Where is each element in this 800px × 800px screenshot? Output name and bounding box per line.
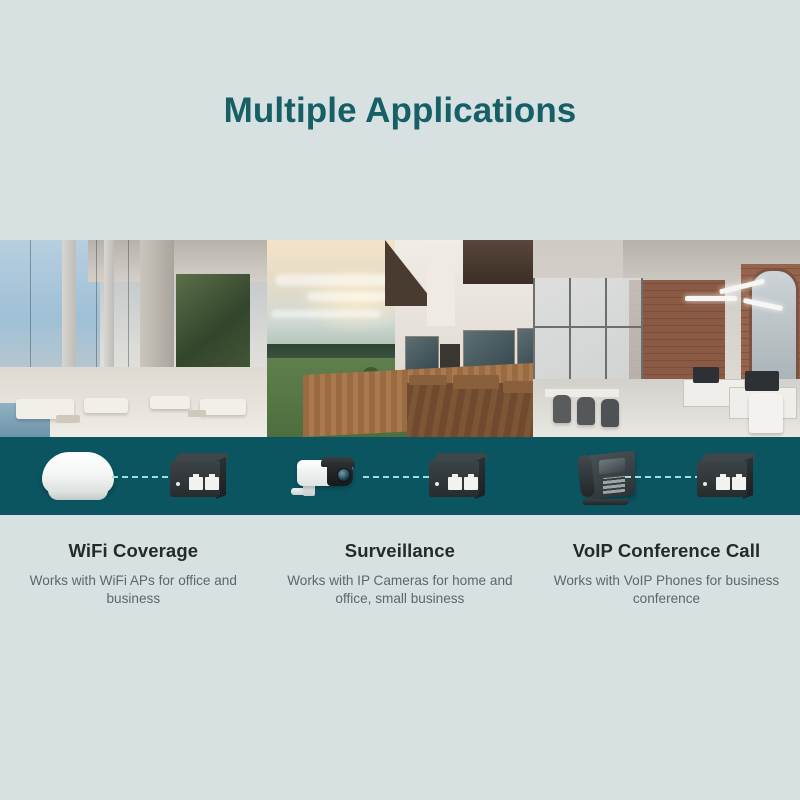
cloud-3 <box>271 310 381 318</box>
application-captions: WiFi Coverage Works with WiFi APs for of… <box>0 540 800 608</box>
rj45-port-1 <box>716 477 730 490</box>
poe-body <box>429 461 479 497</box>
application-showcase-page: Multiple Applications <box>0 0 800 800</box>
caption-description: Works with WiFi APs for office and busin… <box>14 572 253 608</box>
poe-body <box>170 461 220 497</box>
poe-body <box>697 461 747 497</box>
bullet-ip-camera-icon <box>283 454 367 498</box>
ethernet-link-line <box>363 476 429 478</box>
caption-description: Works with VoIP Phones for business conf… <box>547 572 786 608</box>
caption-heading: VoIP Conference Call <box>547 540 786 562</box>
device-diagram-band <box>0 437 800 515</box>
lobby-window-sky <box>0 240 100 370</box>
office-task-chair <box>749 393 783 433</box>
lobby-sofa-2 <box>84 398 128 413</box>
rj45-port-2 <box>732 477 746 490</box>
ap-base <box>48 490 108 500</box>
lobby-green-wall <box>176 274 250 378</box>
rj45-port-2 <box>205 477 219 490</box>
caption-surveillance: Surveillance Works with IP Cameras for h… <box>267 540 534 608</box>
diagram-wifi-coverage <box>0 437 267 515</box>
rj45-port-2 <box>464 477 478 490</box>
rj45-port-1 <box>448 477 462 490</box>
caption-description: Works with IP Cameras for home and offic… <box>281 572 520 608</box>
poe-injector-icon <box>170 453 226 499</box>
poe-injector-icon <box>429 453 485 499</box>
caption-heading: WiFi Coverage <box>14 540 253 562</box>
caption-voip-conference-call: VoIP Conference Call Works with VoIP Pho… <box>533 540 800 608</box>
house-chimney <box>427 246 455 326</box>
office-monitor-1 <box>693 367 719 383</box>
poe-injector-icon <box>697 453 753 499</box>
caption-heading: Surveillance <box>281 540 520 562</box>
scene-photo-industrial-office <box>533 240 800 437</box>
ethernet-link-line <box>112 476 170 478</box>
conference-chair-3 <box>601 399 619 427</box>
scene-photo-strip <box>0 240 800 437</box>
conference-chair-1 <box>553 395 571 423</box>
phone-keypad <box>603 476 625 494</box>
phone-screen <box>599 458 625 475</box>
wifi-access-point-icon <box>42 452 114 500</box>
ap-dome <box>42 452 114 494</box>
rj45-port-1 <box>189 477 203 490</box>
deck-lounger-2 <box>503 381 533 393</box>
lobby-table-2 <box>188 410 206 417</box>
deck-lounger-1 <box>453 375 499 389</box>
scene-photo-office-lobby <box>0 240 267 437</box>
deck-chair-1 <box>409 375 447 385</box>
scene-photo-house-deck <box>267 240 533 437</box>
caption-wifi-coverage: WiFi Coverage Works with WiFi APs for of… <box>0 540 267 608</box>
cloud-1 <box>275 274 395 286</box>
partition-mullion-h1 <box>533 326 643 328</box>
house-roof-overhang <box>463 240 533 284</box>
page-title: Multiple Applications <box>0 92 800 131</box>
page-title-wrap: Multiple Applications <box>0 92 800 131</box>
poe-led-indicator <box>176 482 180 486</box>
office-monitor-2 <box>745 371 779 391</box>
conference-chair-2 <box>577 397 595 425</box>
diagram-voip-conference <box>533 437 800 515</box>
lobby-table-1 <box>56 415 80 423</box>
lobby-sofa-4 <box>200 399 246 415</box>
camera-lens <box>337 468 351 482</box>
lobby-sofa-3 <box>150 396 190 409</box>
diagram-surveillance <box>267 437 533 515</box>
poe-led-indicator <box>703 482 707 486</box>
poe-led-indicator <box>435 482 439 486</box>
phone-stand <box>582 499 630 505</box>
pendant-lamp-1 <box>685 296 737 301</box>
ethernet-link-line <box>625 476 697 478</box>
